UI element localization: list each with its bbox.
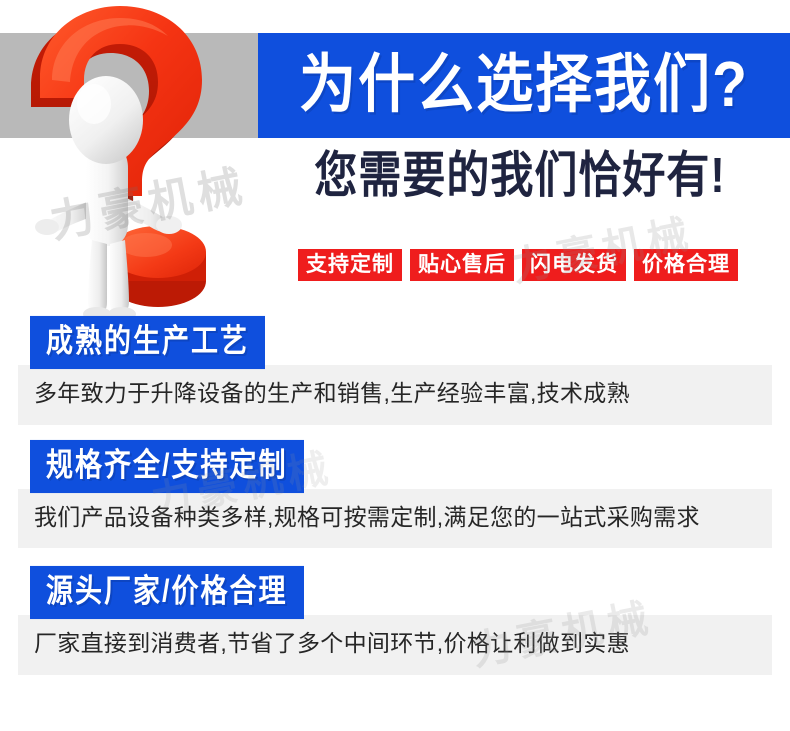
hero-subtitle: 您需要的我们恰好有! — [258, 152, 782, 201]
hero-section: 为什么选择我们? 您需要的我们恰好有! 支持定制 贴心售后 闪电发货 价格合理 — [0, 0, 790, 320]
status-badge: 闪电发货 — [522, 249, 626, 281]
feature-heading: 规格齐全/支持定制 — [30, 440, 304, 493]
feature-heading: 源头厂家/价格合理 — [30, 566, 304, 619]
feature-body: 我们产品设备种类多样,规格可按需定制,满足您的一站式采购需求 — [18, 489, 772, 549]
status-badge: 价格合理 — [634, 249, 738, 281]
status-badge: 贴心售后 — [410, 249, 514, 281]
feature-body: 多年致力于升降设备的生产和销售,生产经验丰富,技术成熟 — [18, 365, 772, 425]
page-title: 为什么选择我们? — [299, 54, 749, 118]
hero-artwork — [0, 0, 268, 320]
hero-title-plate: 为什么选择我们? — [258, 33, 790, 138]
status-badge: 支持定制 — [298, 249, 402, 281]
feature-body: 厂家直接到消费者,节省了多个中间环节,价格让利做到实惠 — [18, 615, 772, 675]
feature-item: 成熟的生产工艺 多年致力于升降设备的生产和销售,生产经验丰富,技术成熟 — [0, 320, 790, 425]
promotional-banner: 为什么选择我们? 您需要的我们恰好有! 支持定制 贴心售后 闪电发货 价格合理 … — [0, 0, 790, 731]
feature-item: 规格齐全/支持定制 我们产品设备种类多样,规格可按需定制,满足您的一站式采购需求 — [0, 444, 790, 549]
feature-item: 源头厂家/价格合理 厂家直接到消费者,节省了多个中间环节,价格让利做到实惠 — [0, 570, 790, 675]
feature-heading: 成熟的生产工艺 — [30, 316, 265, 369]
feature-list: 成熟的生产工艺 多年致力于升降设备的生产和销售,生产经验丰富,技术成熟 规格齐全… — [0, 320, 790, 675]
badge-row: 支持定制 贴心售后 闪电发货 价格合理 — [298, 249, 738, 281]
